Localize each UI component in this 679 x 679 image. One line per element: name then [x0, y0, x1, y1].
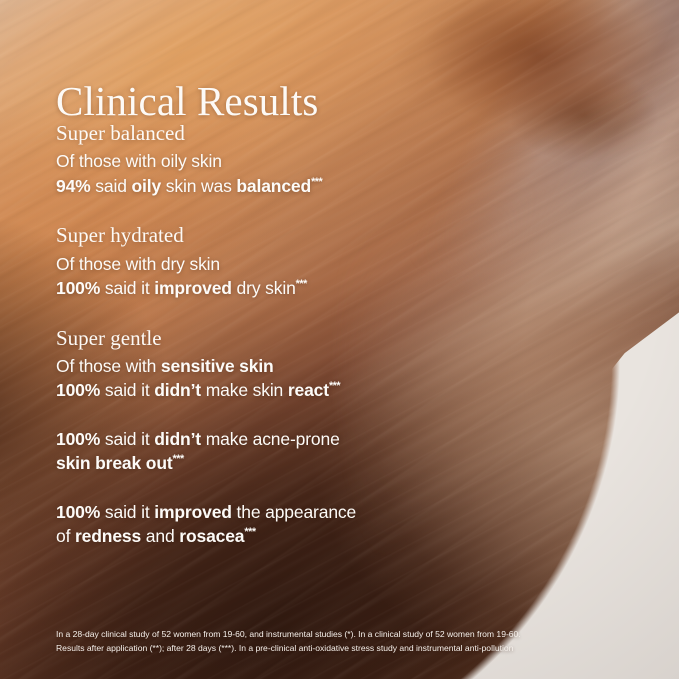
stat-text: said it: [100, 502, 154, 522]
stat-emphasis: didn’t: [154, 380, 201, 400]
footnote-marker: ***: [173, 454, 184, 466]
page-title: Clinical Results: [56, 79, 318, 125]
stat-emphasis: 94%: [56, 176, 91, 196]
results-block: Super gentleOf those with sensitive skin…: [56, 325, 496, 403]
stat-emphasis: 100%: [56, 429, 100, 449]
stat-emphasis: redness: [75, 526, 141, 546]
stat-text: Of those with oily skin: [56, 151, 222, 171]
stat-text: make skin: [201, 380, 288, 400]
stat-emphasis: rosacea: [179, 526, 244, 546]
results-block-heading: Super balanced: [56, 120, 496, 147]
results-block-list: Super balancedOf those with oily skin94%…: [56, 120, 496, 549]
stat-emphasis: 100%: [56, 502, 100, 522]
stat-emphasis: react: [288, 380, 329, 400]
stat-emphasis: didn’t: [154, 429, 201, 449]
stat-text: Of those with dry skin: [56, 254, 220, 274]
clinical-results-panel: Clinical Results Super balancedOf those …: [0, 0, 679, 679]
stat-emphasis: 100%: [56, 278, 100, 298]
results-block-heading: Super gentle: [56, 325, 496, 352]
results-block: 100% said it improved the appearanceof r…: [56, 500, 496, 549]
results-block: Super balancedOf those with oily skin94%…: [56, 120, 496, 198]
footnote: In a 28-day clinical study of 52 women f…: [56, 628, 636, 655]
results-stat-line: of redness and rosacea***: [56, 524, 496, 549]
stat-text: the appearance: [232, 502, 356, 522]
results-block-heading: Super hydrated: [56, 222, 496, 249]
stat-text: said it: [100, 429, 154, 449]
results-block: 100% said it didn’t make acne-proneskin …: [56, 427, 496, 476]
stat-emphasis: 100%: [56, 380, 100, 400]
stat-text: of: [56, 526, 75, 546]
stat-text: said it: [100, 380, 154, 400]
results-stat-line: Of those with dry skin: [56, 252, 496, 277]
results-stat-line: 100% said it improved the appearance: [56, 500, 496, 525]
stat-text: said: [91, 176, 132, 196]
footnote-marker: ***: [296, 278, 307, 290]
stat-emphasis: improved: [154, 502, 232, 522]
results-stat-line: 100% said it didn’t make skin react***: [56, 378, 496, 403]
results-stat-line: skin break out***: [56, 451, 496, 476]
stat-emphasis: improved: [154, 278, 232, 298]
footnote-marker: ***: [329, 381, 340, 393]
results-stat-line: 94% said oily skin was balanced***: [56, 174, 496, 199]
results-block: Super hydratedOf those with dry skin100%…: [56, 222, 496, 300]
stat-emphasis: sensitive skin: [161, 356, 274, 376]
results-stat-line: 100% said it improved dry skin***: [56, 276, 496, 301]
results-stat-line: 100% said it didn’t make acne-prone: [56, 427, 496, 452]
footnote-marker: ***: [244, 527, 255, 539]
content-area: Clinical Results Super balancedOf those …: [0, 0, 679, 679]
stat-emphasis: balanced: [236, 176, 311, 196]
stat-text: and: [141, 526, 179, 546]
results-stat-line: Of those with oily skin: [56, 149, 496, 174]
stat-text: Of those with: [56, 356, 161, 376]
stat-text: skin was: [161, 176, 236, 196]
stat-text: said it: [100, 278, 154, 298]
footnote-marker: ***: [311, 176, 322, 188]
footnote-line-1: In a 28-day clinical study of 52 women f…: [56, 628, 636, 642]
stat-emphasis: skin break out: [56, 453, 173, 473]
stat-text: dry skin: [232, 278, 296, 298]
stat-emphasis: oily: [132, 176, 162, 196]
stat-text: make acne-prone: [201, 429, 340, 449]
results-stat-line: Of those with sensitive skin: [56, 354, 496, 379]
footnote-line-2: Results after application (**); after 28…: [56, 642, 636, 656]
